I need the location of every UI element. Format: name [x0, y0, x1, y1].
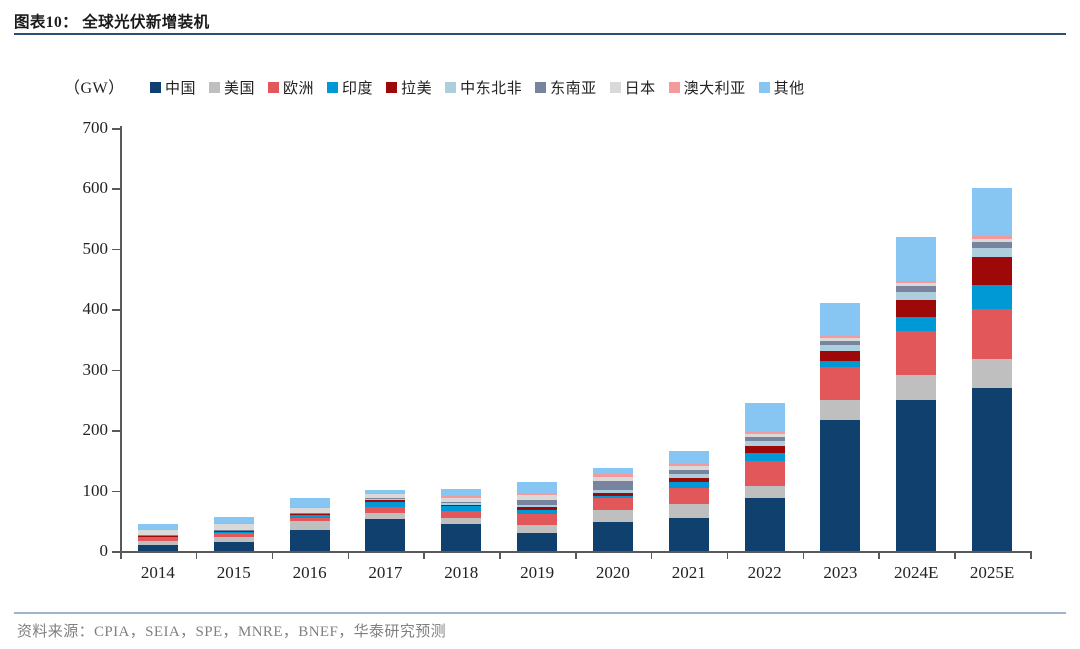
x-tick-mark [954, 551, 956, 559]
bar-segment-china[interactable] [290, 530, 330, 551]
bar-segment-latam[interactable] [290, 514, 330, 515]
bar-segment-sea[interactable] [365, 498, 405, 499]
bar-2025E[interactable] [972, 128, 1012, 551]
bar-segment-australia[interactable] [290, 507, 330, 508]
bar-segment-usa[interactable] [593, 510, 633, 522]
bar-2018[interactable] [441, 128, 481, 551]
x-tick-mark [651, 551, 653, 559]
bar-segment-latam[interactable] [441, 505, 481, 507]
bar-segment-other[interactable] [972, 188, 1012, 236]
x-tick-label: 2014 [141, 563, 175, 583]
bar-segment-sea[interactable] [290, 513, 330, 514]
bar-segment-latam[interactable] [745, 446, 785, 453]
bar-segment-latam[interactable] [972, 257, 1012, 284]
bar-segment-india[interactable] [669, 482, 709, 488]
x-tick-label: 2020 [596, 563, 630, 583]
y-tick-label: 500 [48, 239, 108, 259]
bars-container [120, 128, 1030, 551]
x-tick-label: 2021 [672, 563, 706, 583]
x-tick-mark [878, 551, 880, 559]
y-tick-label: 400 [48, 299, 108, 319]
source-note: 资料来源：CPIA，SEIA，SPE，MNRE，BNEF，华泰研究预测 [17, 620, 446, 641]
bar-segment-china[interactable] [517, 533, 557, 551]
bar-segment-china[interactable] [669, 518, 709, 551]
bar-segment-europe[interactable] [138, 537, 178, 541]
bar-segment-australia[interactable] [896, 281, 936, 283]
bar-segment-europe[interactable] [820, 367, 860, 401]
bar-2016[interactable] [290, 128, 330, 551]
bar-segment-usa[interactable] [138, 541, 178, 545]
bar-segment-japan[interactable] [441, 498, 481, 502]
bar-segment-sea[interactable] [820, 341, 860, 345]
bar-segment-china[interactable] [972, 388, 1012, 551]
y-tick-label: 600 [48, 178, 108, 198]
bar-segment-usa[interactable] [820, 400, 860, 420]
bar-segment-australia[interactable] [745, 432, 785, 434]
bar-segment-sea[interactable] [745, 437, 785, 441]
bar-segment-sea[interactable] [669, 470, 709, 474]
bar-segment-other[interactable] [214, 517, 254, 523]
bar-segment-australia[interactable] [441, 496, 481, 498]
bar-segment-other[interactable] [896, 237, 936, 281]
bar-segment-usa[interactable] [972, 359, 1012, 388]
bar-segment-other[interactable] [290, 498, 330, 506]
x-tick-mark [272, 551, 274, 559]
y-axis-labels: 0100200300400500600700 [40, 0, 108, 600]
bar-segment-latam[interactable] [365, 500, 405, 501]
bar-segment-europe[interactable] [517, 514, 557, 525]
bar-segment-mena[interactable] [365, 499, 405, 500]
bar-segment-usa[interactable] [745, 486, 785, 498]
bar-2015[interactable] [214, 128, 254, 551]
x-tick-label: 2016 [293, 563, 327, 583]
bar-segment-australia[interactable] [138, 529, 178, 530]
bar-segment-australia[interactable] [365, 493, 405, 494]
bar-segment-latam[interactable] [517, 507, 557, 510]
bar-2019[interactable] [517, 128, 557, 551]
bar-segment-europe[interactable] [745, 461, 785, 486]
bar-segment-australia[interactable] [593, 474, 633, 477]
bar-segment-india[interactable] [820, 361, 860, 367]
bar-segment-india[interactable] [290, 515, 330, 518]
bar-segment-latam[interactable] [669, 478, 709, 482]
bar-segment-other[interactable] [517, 482, 557, 493]
y-tick-mark [112, 430, 121, 432]
bar-segment-china[interactable] [896, 400, 936, 551]
bar-segment-usa[interactable] [290, 521, 330, 530]
y-tick-label: 100 [48, 481, 108, 501]
bar-segment-china[interactable] [365, 519, 405, 551]
chart-page: 图表10： 全球光伏新增装机 （GW） 中国美国欧洲印度拉美中东北非东南亚日本澳… [0, 0, 1080, 649]
bar-segment-usa[interactable] [365, 513, 405, 519]
bar-segment-mena[interactable] [669, 474, 709, 478]
bar-2024E[interactable] [896, 128, 936, 551]
x-tick-mark [423, 551, 425, 559]
x-tick-label: 2024E [894, 563, 938, 583]
bar-segment-europe[interactable] [593, 498, 633, 510]
bar-segment-china[interactable] [214, 542, 254, 551]
bar-segment-japan[interactable] [896, 283, 936, 286]
y-tick-label: 300 [48, 360, 108, 380]
bar-segment-usa[interactable] [896, 375, 936, 400]
bar-segment-sea[interactable] [441, 502, 481, 503]
bar-segment-china[interactable] [441, 524, 481, 551]
bar-segment-japan[interactable] [517, 495, 557, 499]
x-tick-mark [803, 551, 805, 559]
bar-segment-europe[interactable] [669, 488, 709, 504]
bar-segment-europe[interactable] [214, 533, 254, 538]
y-tick-label: 200 [48, 420, 108, 440]
x-tick-mark [575, 551, 577, 559]
bar-segment-mena[interactable] [290, 513, 330, 514]
bar-segment-india[interactable] [138, 536, 178, 537]
bar-segment-india[interactable] [214, 531, 254, 532]
x-tick-label: 2015 [217, 563, 251, 583]
bar-segment-india[interactable] [365, 502, 405, 508]
bar-segment-australia[interactable] [517, 493, 557, 495]
bar-segment-india[interactable] [441, 506, 481, 511]
bar-segment-mena[interactable] [820, 345, 860, 351]
y-tick-mark [112, 551, 121, 553]
x-tick-label: 2019 [520, 563, 554, 583]
bar-segment-japan[interactable] [365, 494, 405, 499]
bar-segment-other[interactable] [669, 451, 709, 464]
bar-segment-japan[interactable] [290, 507, 330, 512]
bar-2020[interactable] [593, 128, 633, 551]
bar-segment-india[interactable] [972, 285, 1012, 309]
y-tick-label: 0 [48, 541, 108, 561]
bar-2022[interactable] [745, 128, 785, 551]
bar-segment-japan[interactable] [138, 529, 178, 535]
bar-segment-europe[interactable] [896, 331, 936, 375]
x-tick-mark [196, 551, 198, 559]
bar-segment-sea[interactable] [896, 286, 936, 291]
bar-segment-australia[interactable] [972, 236, 1012, 238]
bar-segment-europe[interactable] [365, 507, 405, 512]
bar-segment-india[interactable] [896, 317, 936, 332]
x-tick-label: 2022 [748, 563, 782, 583]
bar-segment-mena[interactable] [593, 490, 633, 493]
y-tick-mark [112, 128, 121, 130]
bar-segment-latam[interactable] [820, 351, 860, 361]
bar-segment-other[interactable] [820, 303, 860, 336]
y-tick-mark [112, 249, 121, 251]
bar-2017[interactable] [365, 128, 405, 551]
x-tick-label: 2023 [823, 563, 857, 583]
bar-segment-mena[interactable] [745, 441, 785, 446]
y-tick-label: 700 [48, 118, 108, 138]
bar-segment-japan[interactable] [214, 523, 254, 530]
bar-segment-china[interactable] [138, 545, 178, 551]
x-tick-mark [499, 551, 501, 559]
bar-segment-india[interactable] [745, 453, 785, 461]
bar-segment-europe[interactable] [441, 511, 481, 518]
bar-segment-sea[interactable] [517, 500, 557, 505]
bar-segment-japan[interactable] [972, 239, 1012, 242]
bar-segment-japan[interactable] [820, 338, 860, 341]
bar-segment-china[interactable] [745, 498, 785, 551]
x-tick-mark [727, 551, 729, 559]
x-tick-label: 2017 [368, 563, 402, 583]
bar-segment-latam[interactable] [896, 300, 936, 316]
bar-segment-japan[interactable] [745, 434, 785, 437]
y-tick-mark [112, 188, 121, 190]
bar-segment-australia[interactable] [820, 336, 860, 338]
plot-area: 0100200300400500600700 20142015201620172… [0, 0, 1080, 600]
bar-2014[interactable] [138, 128, 178, 551]
bar-segment-usa[interactable] [669, 504, 709, 518]
y-tick-mark [112, 370, 121, 372]
x-tick-label: 2018 [444, 563, 478, 583]
bar-segment-other[interactable] [593, 468, 633, 475]
bar-segment-japan[interactable] [669, 466, 709, 470]
bar-segment-mena[interactable] [517, 505, 557, 507]
bar-segment-other[interactable] [138, 524, 178, 529]
bar-2023[interactable] [820, 128, 860, 551]
bar-segment-usa[interactable] [214, 537, 254, 541]
bar-segment-other[interactable] [745, 403, 785, 432]
x-tick-mark [1030, 551, 1032, 559]
bar-segment-china[interactable] [820, 420, 860, 551]
bar-segment-europe[interactable] [290, 518, 330, 522]
bar-segment-india[interactable] [517, 510, 557, 514]
footer-divider [14, 612, 1066, 614]
bar-segment-mena[interactable] [972, 248, 1012, 258]
bar-segment-australia[interactable] [669, 464, 709, 467]
bar-segment-other[interactable] [365, 490, 405, 493]
x-tick-label: 2025E [970, 563, 1014, 583]
bar-segment-usa[interactable] [441, 518, 481, 524]
bar-segment-mena[interactable] [896, 292, 936, 300]
bar-segment-europe[interactable] [972, 309, 1012, 359]
bar-2021[interactable] [669, 128, 709, 551]
bar-segment-sea[interactable] [972, 242, 1012, 248]
x-tick-mark [348, 551, 350, 559]
y-tick-mark [112, 491, 121, 493]
bar-segment-usa[interactable] [517, 525, 557, 533]
bar-segment-mena[interactable] [441, 503, 481, 504]
bar-segment-sea[interactable] [593, 481, 633, 490]
bar-segment-japan[interactable] [593, 477, 633, 481]
bar-segment-other[interactable] [441, 489, 481, 496]
bar-segment-australia[interactable] [214, 523, 254, 524]
bar-segment-china[interactable] [593, 522, 633, 551]
bar-segment-latam[interactable] [593, 493, 633, 496]
bar-segment-india[interactable] [593, 496, 633, 499]
y-tick-mark [112, 309, 121, 311]
